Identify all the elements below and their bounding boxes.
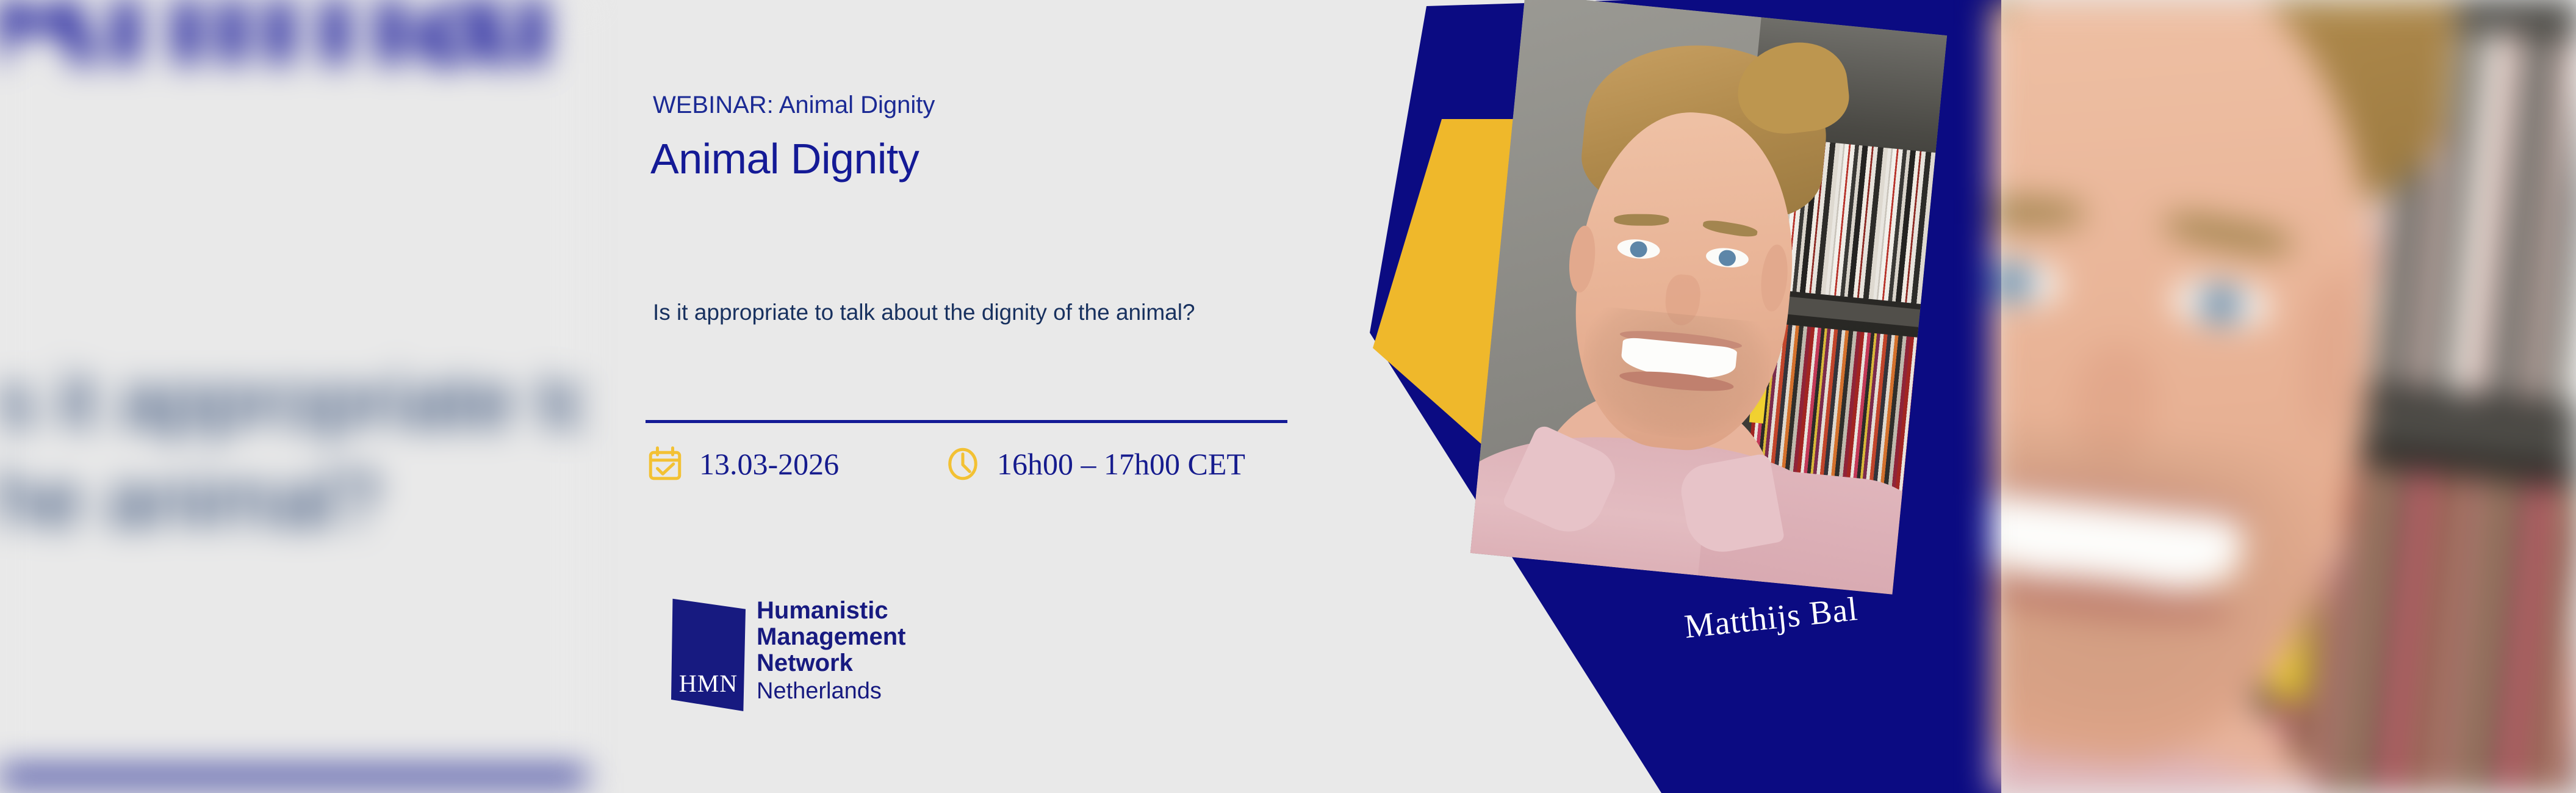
event-date: 13.03-2026 <box>647 430 839 498</box>
blurred-left-backdrop: Animal Dignity Is it appropriate to talk… <box>0 0 586 793</box>
speaker-photo <box>1470 0 1947 595</box>
hmn-logo-mark: HMN <box>671 595 746 711</box>
horizontal-divider <box>646 420 1287 423</box>
logo-line-network: Network <box>757 650 906 676</box>
event-time: 16h00 – 17h00 CET <box>944 430 1245 498</box>
logo-line-humanistic: Humanistic <box>757 598 906 624</box>
logo-wordmark: Humanistic Management Network Netherland… <box>757 595 906 704</box>
event-time-text: 16h00 – 17h00 CET <box>997 446 1245 482</box>
blurred-question: Is it appropriate to talk about the dign… <box>0 352 586 549</box>
logo-monogram: HMN <box>671 669 746 698</box>
clock-icon <box>944 446 981 482</box>
webinar-banner: Animal Dignity Is it appropriate to talk… <box>0 0 2576 793</box>
event-meta-row: 13.03-2026 16h00 – 17h00 CET <box>646 430 1287 498</box>
logo-line-netherlands: Netherlands <box>757 677 906 704</box>
hmn-logo: HMN Humanistic Management Network Nether… <box>671 595 906 711</box>
calendar-check-icon <box>647 446 683 482</box>
blurred-headline: Animal Dignity <box>0 0 586 105</box>
webinar-question: Is it appropriate to talk about the dign… <box>653 296 1232 329</box>
page-title: Animal Dignity <box>650 134 919 183</box>
webinar-eyebrow: WEBINAR: Animal Dignity <box>653 92 935 119</box>
blurred-right-backdrop <box>1991 0 2576 793</box>
event-date-text: 13.03-2026 <box>699 446 839 482</box>
blurred-speaker-photo <box>1991 0 2576 793</box>
logo-line-management: Management <box>757 624 906 650</box>
blurred-divider <box>0 768 586 784</box>
